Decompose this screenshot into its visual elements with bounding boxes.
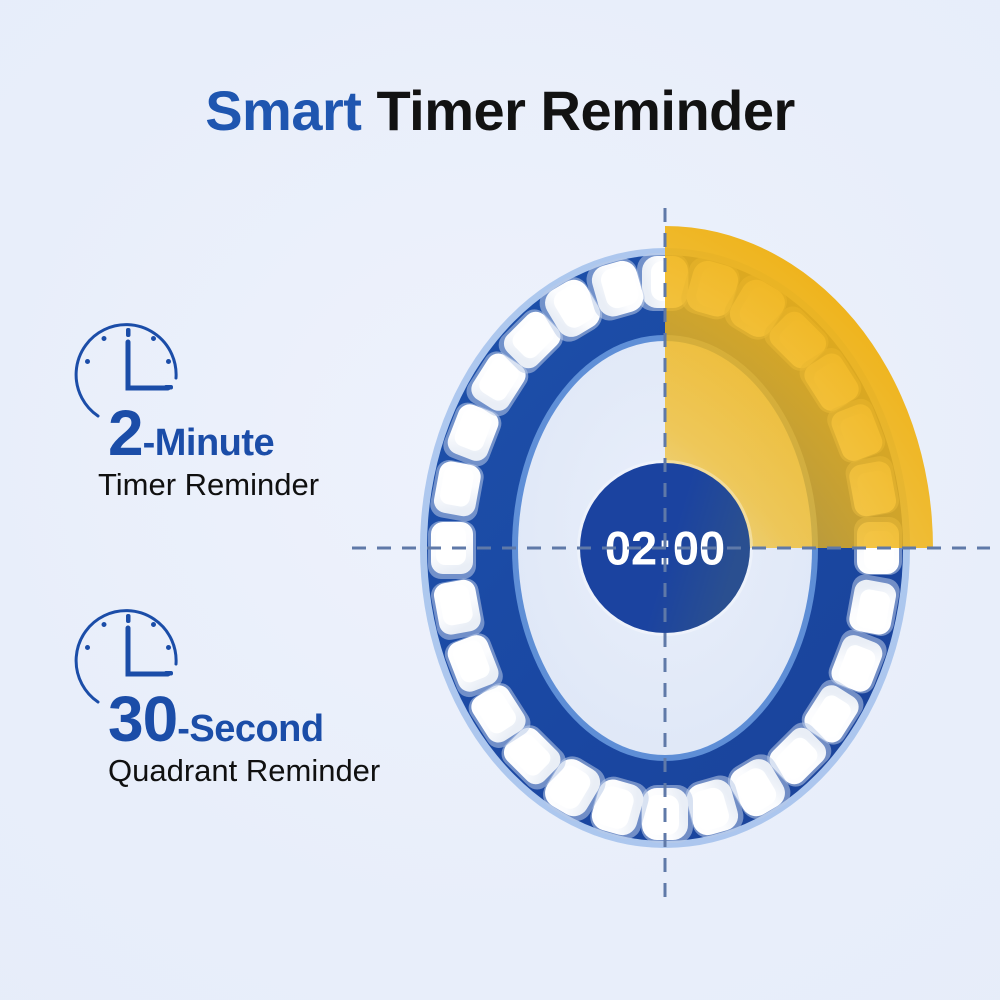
feature-second-headline: 30-Second	[108, 682, 324, 756]
feature-minute-unit: -Minute	[143, 422, 275, 464]
title-rest: Timer Reminder	[361, 79, 794, 142]
feature-second-unit: -Second	[177, 708, 323, 750]
tooth	[641, 785, 693, 843]
title-accent-word: Smart	[205, 79, 361, 142]
feature-minute-number: 2	[108, 397, 143, 469]
infographic-canvas: Smart Timer Reminder 2-Minute Timer Remi…	[0, 0, 1000, 1000]
tooth	[428, 521, 476, 579]
feature-second-number: 30	[108, 683, 177, 755]
page-title: Smart Timer Reminder	[0, 78, 1000, 143]
feature-minute-headline: 2-Minute	[108, 396, 274, 470]
dental-arch-diagram: 02:00	[330, 200, 1000, 960]
feature-minute-subtitle: Timer Reminder	[98, 467, 319, 503]
